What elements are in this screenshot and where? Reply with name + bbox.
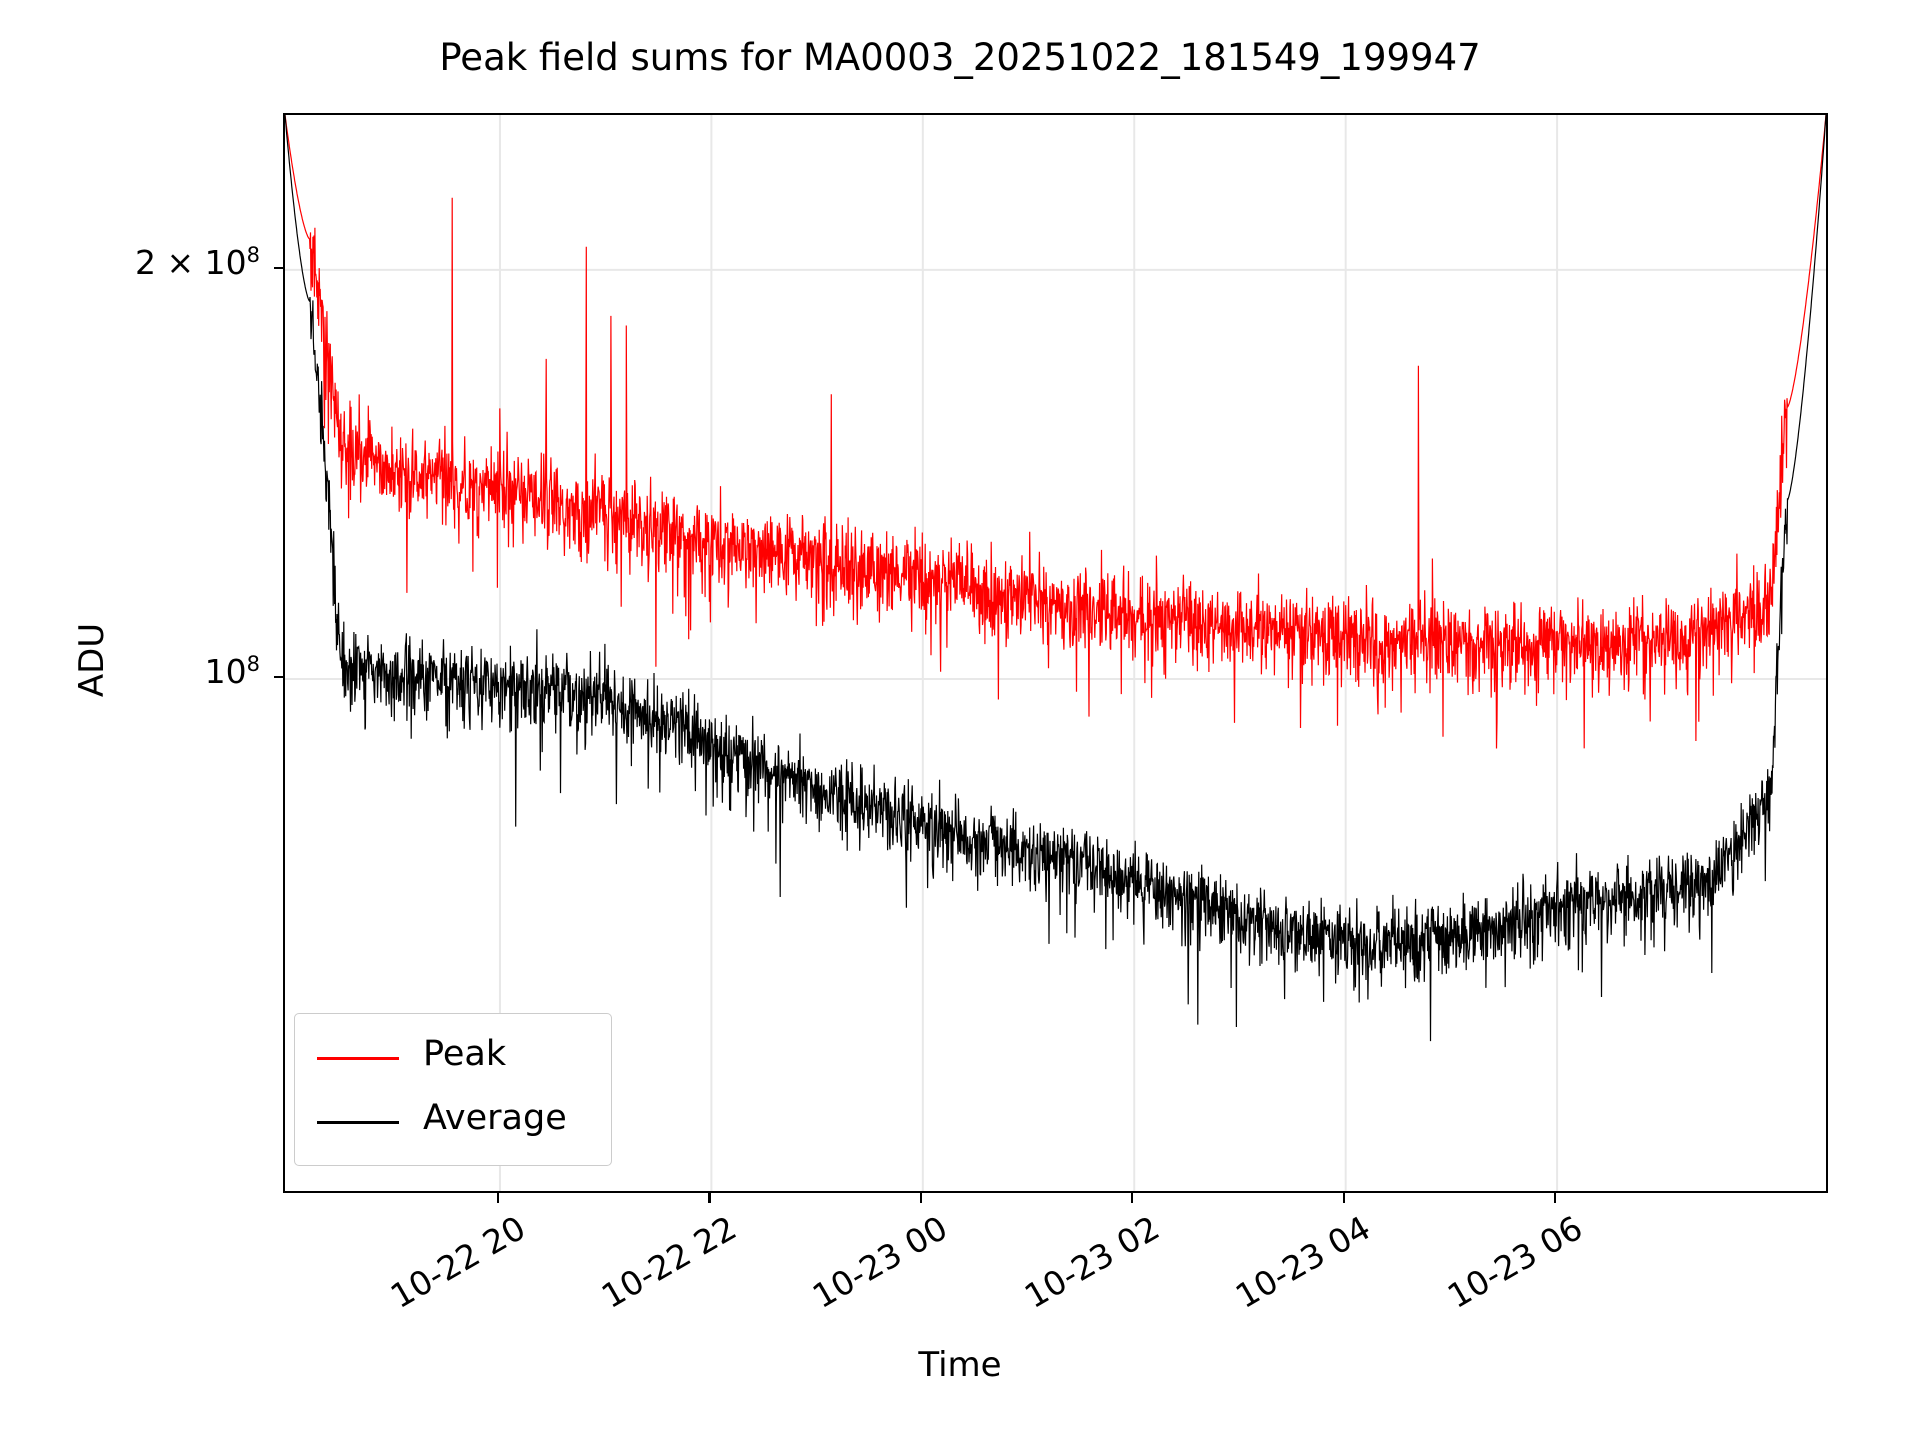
x-tick-label: 10-23 06 xyxy=(1441,1208,1589,1316)
y-tick-label: 108 xyxy=(205,655,260,688)
y-tick: 2 × 108 xyxy=(60,268,260,269)
y-axis-label: ADU xyxy=(72,550,112,770)
x-tick-label: 10-22 20 xyxy=(383,1208,531,1316)
y-tick: 108 xyxy=(60,677,260,678)
x-tick-mark xyxy=(708,1193,710,1203)
y-tick-mark xyxy=(274,267,283,269)
series-line-peak xyxy=(285,115,1826,749)
y-tick-mark xyxy=(274,676,283,678)
x-tick-mark xyxy=(1131,1193,1133,1203)
x-tick-label: 10-23 04 xyxy=(1229,1208,1377,1316)
x-axis-label: Time xyxy=(0,1345,1920,1385)
legend-swatch-peak xyxy=(317,1057,399,1060)
x-tick-label: 10-23 00 xyxy=(806,1208,954,1316)
x-tick-label: 10-23 02 xyxy=(1018,1208,1166,1316)
chart-figure: Peak field sums for MA0003_20251022_1815… xyxy=(0,0,1920,1440)
x-tick-mark xyxy=(1343,1193,1345,1203)
chart-title: Peak field sums for MA0003_20251022_1815… xyxy=(0,36,1920,79)
series-line-average xyxy=(285,115,1826,1041)
legend-label-average: Average xyxy=(423,1098,567,1138)
x-tick-label: 10-22 22 xyxy=(595,1208,743,1316)
x-tick-mark xyxy=(920,1193,922,1203)
y-tick-label: 2 × 108 xyxy=(135,246,260,279)
legend-item-peak[interactable]: Peak xyxy=(295,1028,611,1088)
legend-item-average[interactable]: Average xyxy=(295,1092,611,1152)
legend-swatch-average xyxy=(317,1121,399,1124)
x-tick-mark xyxy=(1554,1193,1556,1203)
chart-legend[interactable]: Peak Average xyxy=(294,1013,612,1166)
x-tick-mark xyxy=(497,1193,499,1203)
legend-label-peak: Peak xyxy=(423,1034,506,1074)
